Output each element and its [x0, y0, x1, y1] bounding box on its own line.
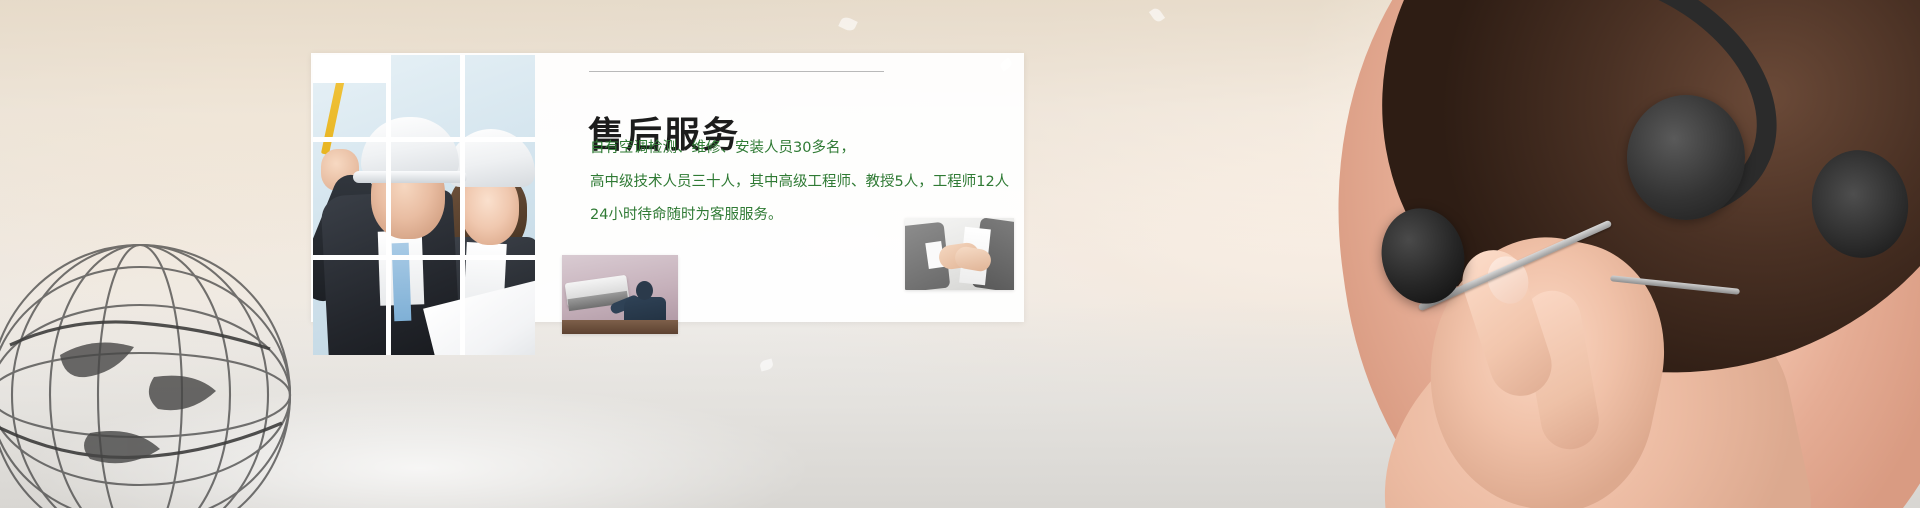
service-description: 自有空调检测、维修、安装人员30多名， 高中级技术人员三十人，其中高级工程师、教… [590, 139, 1010, 226]
wireframe-globe-icon [0, 195, 340, 508]
collage-corner-mask [313, 55, 386, 83]
call-center-agent-photo [1160, 0, 1920, 508]
headset-earcup-icon [1627, 95, 1745, 220]
engineers-collage-photo [313, 55, 535, 355]
service-banner: 售后服务 自有空调检测、维修、安装人员30多名， 高中级技术人员三十人，其中高级… [0, 0, 1920, 508]
description-line: 自有空调检测、维修、安装人员30多名， [590, 139, 1010, 159]
room-floor [562, 320, 678, 334]
handshake-photo [905, 218, 1014, 290]
title-divider [589, 71, 884, 72]
ac-installation-photo [562, 255, 678, 334]
description-line: 高中级技术人员三十人，其中高级工程师、教授5人，工程师12人 [590, 173, 1010, 193]
technician-head [636, 281, 653, 300]
collage-grid-overlay [313, 55, 535, 355]
description-line: 24小时待命随时为客服服务。 [590, 206, 1010, 226]
